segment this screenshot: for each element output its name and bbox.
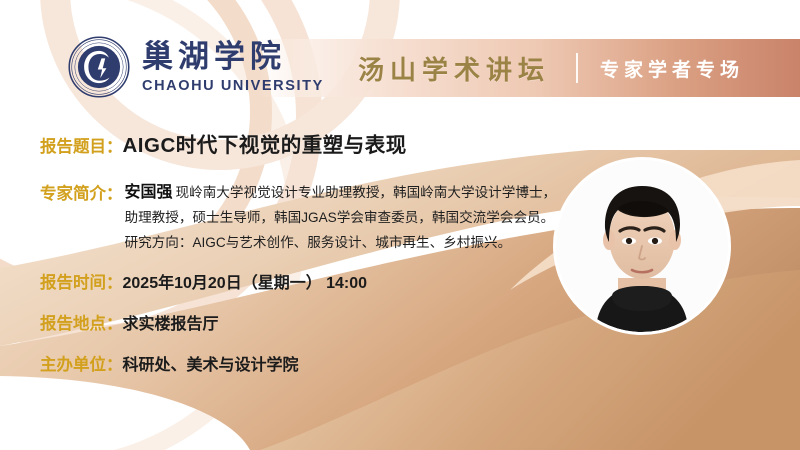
place-row: 报告地点： 求实楼报告厅 <box>40 310 560 334</box>
portrait-photo <box>556 160 728 332</box>
university-name-block: 巢湖学院 CHAOHU UNIVERSITY <box>142 41 324 94</box>
header-banner: 汤山学术讲坛 专家学者专场 <box>258 39 800 97</box>
topic-value: AIGC时代下视觉的重塑与表现 <box>123 128 407 158</box>
speaker-portrait <box>556 160 728 332</box>
university-name-en: CHAOHU UNIVERSITY <box>142 79 324 94</box>
speaker-name: 安国强 <box>125 184 173 201</box>
lecture-poster: 汤山学术讲坛 专家学者专场 巢湖学院 CHAOHU UNIVERSITY <box>0 0 800 450</box>
bio-text-1: 现岭南大学视觉设计专业助理教授，韩国岭南大学设计学博士， <box>176 185 557 200</box>
time-row: 报告时间： 2025年10月20日（星期一） 14:00 <box>40 269 560 293</box>
topic-row: 报告题目： AIGC时代下视觉的重塑与表现 <box>40 128 560 158</box>
university-seal-icon <box>68 36 130 98</box>
speaker-bio: 安国强现岭南大学视觉设计专业助理教授，韩国岭南大学设计学博士， 助理教授，硕士生… <box>125 180 557 255</box>
organizer-row: 主办单位： 科研处、美术与设计学院 <box>40 351 560 375</box>
speaker-row: 专家简介： 安国强现岭南大学视觉设计专业助理教授，韩国岭南大学设计学博士， 助理… <box>40 180 560 255</box>
university-logo: 巢湖学院 CHAOHU UNIVERSITY <box>68 36 324 98</box>
banner-subtitle: 专家学者专场 <box>600 55 744 82</box>
bio-line: 助理教授，硕士生导师，韩国JGAS学会审查委员，韩国交流学会会员。 <box>125 205 557 230</box>
organizer-label: 主办单位： <box>40 351 123 375</box>
speaker-label: 专家简介： <box>40 180 123 204</box>
banner-divider <box>576 53 578 83</box>
place-label: 报告地点： <box>40 310 123 334</box>
bio-line: 安国强现岭南大学视觉设计专业助理教授，韩国岭南大学设计学博士， <box>125 180 557 205</box>
place-value: 求实楼报告厅 <box>123 310 219 334</box>
banner-title: 汤山学术讲坛 <box>358 50 550 87</box>
university-name-cn: 巢湖学院 <box>142 41 324 72</box>
time-label: 报告时间： <box>40 269 123 293</box>
topic-label: 报告题目： <box>40 133 123 157</box>
poster-content: 报告题目： AIGC时代下视觉的重塑与表现 专家简介： 安国强现岭南大学视觉设计… <box>40 128 560 392</box>
bio-line: 研究方向：AIGC与艺术创作、服务设计、城市再生、乡村振兴。 <box>125 230 557 255</box>
organizer-value: 科研处、美术与设计学院 <box>123 351 299 375</box>
time-value: 2025年10月20日（星期一） 14:00 <box>123 269 368 293</box>
